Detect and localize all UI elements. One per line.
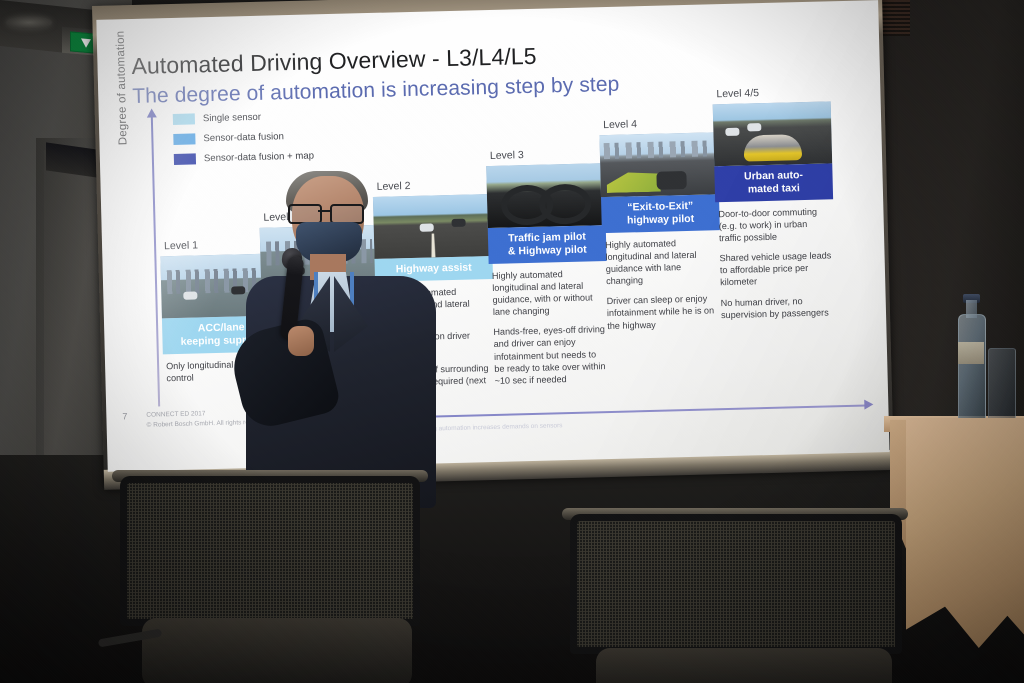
water-bottle xyxy=(958,314,986,426)
slide-page-number: 7 xyxy=(122,411,127,421)
drinking-glass xyxy=(988,348,1016,422)
column-body-paragraph: Hands-free, eyes-off driving and driver … xyxy=(493,323,607,387)
column-body: Highly automated longitudinal and latera… xyxy=(602,230,722,332)
y-axis-arrow-icon xyxy=(147,108,157,117)
chair-seat xyxy=(596,648,892,683)
progression-arrow-head-icon xyxy=(864,399,873,409)
chair-backrest xyxy=(570,514,902,654)
presenter xyxy=(236,176,436,506)
legend: Single sensor Sensor-data fusion Sensor-… xyxy=(173,110,315,174)
y-axis-label: Degree of automation xyxy=(113,0,129,145)
chair-backrest xyxy=(120,476,420,626)
column-body-paragraph: Shared vehicle usage leads to affordable… xyxy=(719,249,832,288)
highway-sensor-overlay-photo xyxy=(599,132,719,197)
bottle-label xyxy=(958,342,984,364)
legend-swatch-single-sensor xyxy=(173,113,195,125)
column-body-paragraph: Highly automated longitudinal and latera… xyxy=(492,267,605,319)
conference-room-scene: Automated Driving Overview - L3/L4/L5 Th… xyxy=(0,0,1024,683)
presentation-slide: Automated Driving Overview - L3/L4/L5 Th… xyxy=(96,0,889,472)
projection-screen: Automated Driving Overview - L3/L4/L5 Th… xyxy=(92,0,894,506)
column-body-paragraph: Highly automated longitudinal and latera… xyxy=(605,236,718,288)
hands-off-steering-wheel-photo xyxy=(486,163,606,228)
presenter-hand xyxy=(288,326,314,356)
column-band-title: Urban auto- mated taxi xyxy=(714,163,833,202)
y-axis-line xyxy=(151,114,160,406)
legend-swatch-sensor-fusion-map xyxy=(174,153,196,165)
column-level-label: Level 4 xyxy=(603,116,717,131)
chair-left xyxy=(112,470,442,683)
legend-swatch-sensor-fusion xyxy=(173,133,195,145)
column-body-paragraph: No human driver, no supervision by passe… xyxy=(721,294,834,321)
screen-surface: Automated Driving Overview - L3/L4/L5 Th… xyxy=(96,0,889,472)
chair-right xyxy=(562,508,922,683)
column-body-paragraph: Driver can sleep or enjoy infotainment w… xyxy=(606,293,719,332)
chair-seat xyxy=(142,618,412,683)
legend-item: Single sensor xyxy=(173,110,313,125)
column-level-3: Level 3 Traffic jam pilot & Highway pilo… xyxy=(486,147,610,395)
legend-label: Sensor-data fusion xyxy=(203,131,284,144)
column-level-label: Level 4/5 xyxy=(716,85,830,100)
column-body-paragraph: Door-to-door commuting (e.g. to work) in… xyxy=(718,205,831,244)
column-band-title: Traffic jam pilot & Highway pilot xyxy=(488,225,607,264)
column-level-label: Level 3 xyxy=(490,147,604,162)
urban-robotaxi-photo xyxy=(713,101,833,166)
column-body: Door-to-door commuting (e.g. to work) in… xyxy=(715,199,836,321)
column-level-4: Level 4 “Exit-to-Exit” highway pilot Hig… xyxy=(599,116,723,340)
page-title: Automated Driving Overview - L3/L4/L5 xyxy=(131,43,537,80)
beige-tablecloth xyxy=(906,418,1024,648)
exit-arrow-icon xyxy=(81,38,91,48)
legend-label: Single sensor xyxy=(203,112,261,124)
legend-item: Sensor-data fusion xyxy=(173,130,313,145)
column-band-title: “Exit-to-Exit” highway pilot xyxy=(601,194,720,233)
column-level-4-5: Level 4/5 Urban auto- mated taxi Door-to… xyxy=(712,85,836,329)
eyeglasses-icon xyxy=(288,204,366,220)
legend-item: Sensor-data fusion + map xyxy=(174,150,314,165)
legend-label: Sensor-data fusion + map xyxy=(204,150,314,164)
ceiling-light xyxy=(6,16,52,29)
column-body: Highly automated longitudinal and latera… xyxy=(489,261,610,387)
